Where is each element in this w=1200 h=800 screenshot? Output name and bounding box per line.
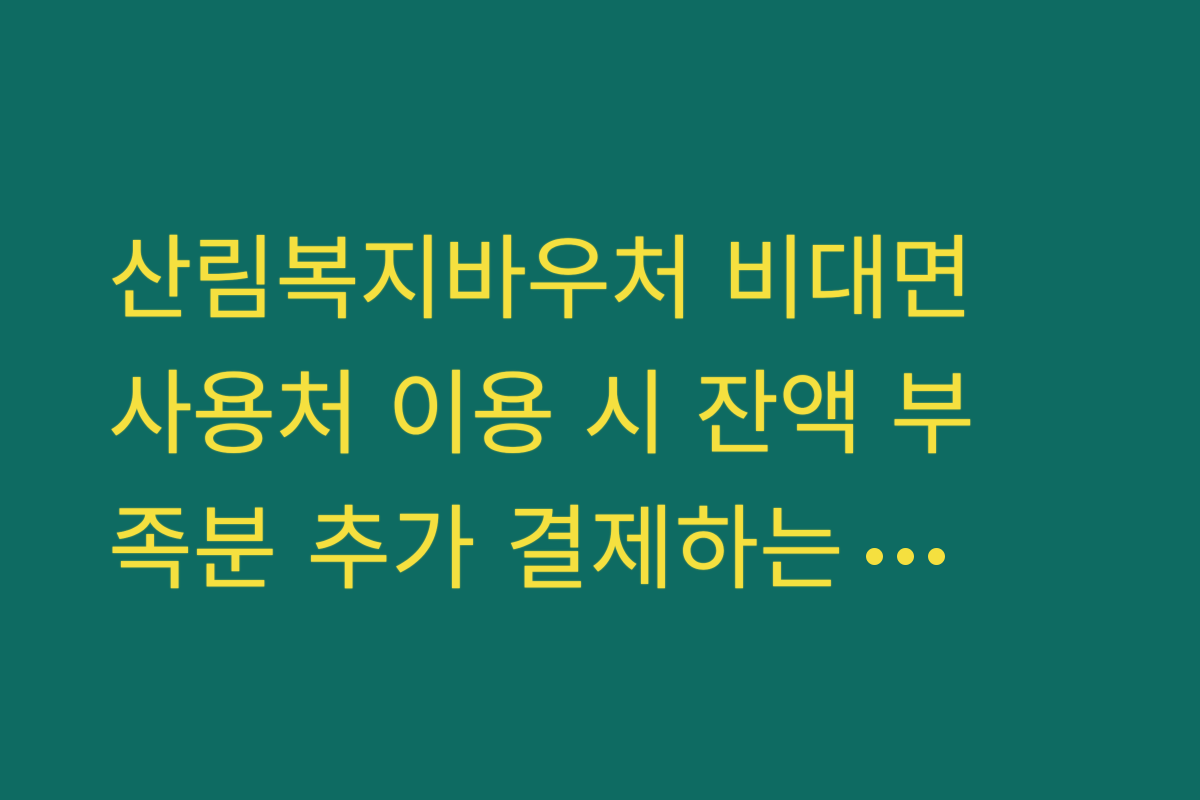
headline-line-3-text: 족분 추가 결제하는 <box>108 496 844 603</box>
headline-text-block: 산림복지바우처 비대면 사용처 이용 시 잔액 부 족분 추가 결제하는 <box>108 212 1108 617</box>
headline-line-3: 족분 추가 결제하는 <box>108 482 1108 617</box>
ellipsis-dot-1 <box>866 548 883 565</box>
headline-line-2: 사용처 이용 시 잔액 부 <box>108 347 1108 482</box>
ellipsis-icon <box>866 466 945 601</box>
ellipsis-dot-3 <box>928 548 945 565</box>
headline-line-1: 산림복지바우처 비대면 <box>108 212 1108 347</box>
thumbnail-canvas: 산림복지바우처 비대면 사용처 이용 시 잔액 부 족분 추가 결제하는 <box>0 0 1200 800</box>
ellipsis-dot-2 <box>897 548 914 565</box>
